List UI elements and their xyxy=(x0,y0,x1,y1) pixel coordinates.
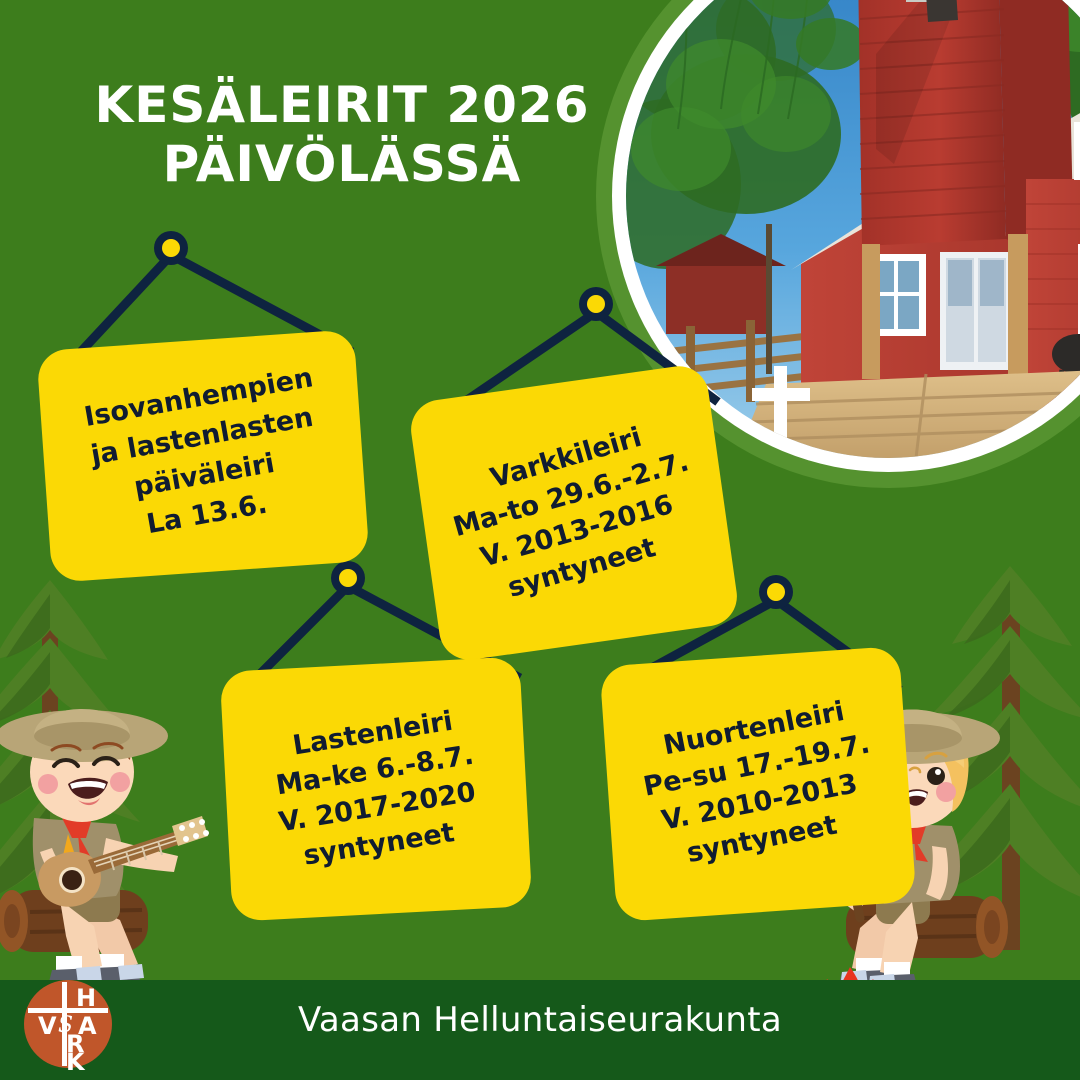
svg-text:K: K xyxy=(66,1048,86,1072)
poster-canvas: KESÄLEIRIT 2026 PÄIVÖLÄSSÄ xyxy=(0,0,1080,1080)
church-logo[interactable]: H V A S R K xyxy=(20,976,116,1072)
svg-text:H: H xyxy=(76,984,96,1012)
camp-card-isovanhempien-paivaleiri[interactable]: Isovanhempien ja lastenlasten päiväleiri… xyxy=(36,329,369,583)
footer-organization-name: Vaasan Helluntaiseurakunta xyxy=(0,1000,1080,1040)
camp-card-lastenleiri[interactable]: Lastenleiri Ma-ke 6.-8.7. V. 2017-2020 s… xyxy=(220,656,533,921)
camp-card-varkkileiri[interactable]: Varkkileiri Ma-to 29.6.-2.7. V. 2013-201… xyxy=(407,362,741,663)
camp-card-nuortenleiri[interactable]: Nuortenleiri Pe-su 17.-19.7. V. 2010-201… xyxy=(599,646,916,922)
svg-text:V: V xyxy=(38,1012,57,1040)
